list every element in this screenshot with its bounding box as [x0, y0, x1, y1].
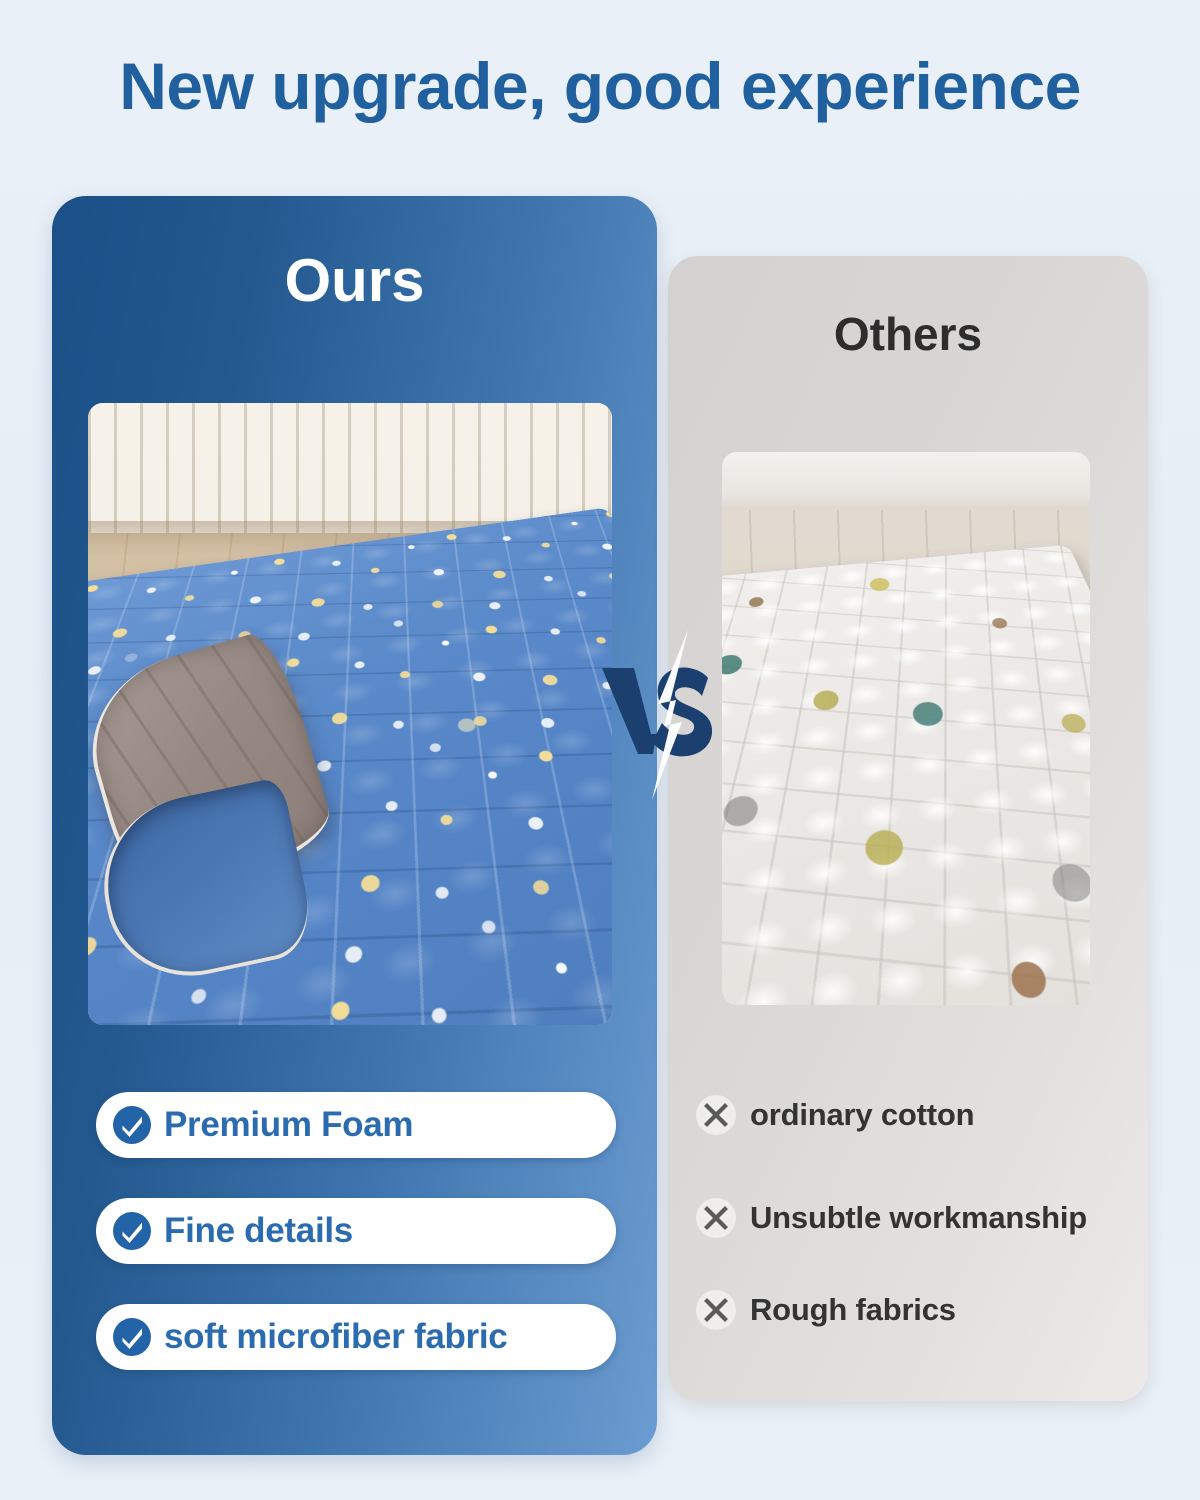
- others-feature-row[interactable]: Unsubtle workmanship: [694, 1196, 1087, 1240]
- others-feature-label: Rough fabrics: [750, 1292, 956, 1328]
- ours-feature-row[interactable]: Fine details: [96, 1198, 616, 1264]
- others-pad-animal-pattern: [722, 544, 1090, 1005]
- ours-feature-label: Premium Foam: [164, 1105, 413, 1145]
- ours-curtain: [88, 403, 612, 533]
- check-circle-icon: [112, 1317, 152, 1357]
- x-circle-icon: [694, 1196, 738, 1240]
- ours-feature-row[interactable]: soft microfiber fabric: [96, 1304, 616, 1370]
- ours-heading: Ours: [52, 246, 657, 316]
- others-heading: Others: [668, 306, 1148, 362]
- others-feature-label: ordinary cotton: [750, 1097, 974, 1133]
- others-feature-label: Unsubtle workmanship: [750, 1200, 1087, 1236]
- x-circle-icon: [694, 1288, 738, 1332]
- page-title: New upgrade, good experience: [0, 46, 1200, 126]
- ours-feature-label: Fine details: [164, 1211, 353, 1251]
- others-feature-row[interactable]: ordinary cotton: [694, 1093, 974, 1137]
- others-wall: [722, 452, 1090, 510]
- ours-feature-label: soft microfiber fabric: [164, 1317, 507, 1357]
- x-circle-icon: [694, 1093, 738, 1137]
- ours-feature-row[interactable]: Premium Foam: [96, 1092, 616, 1158]
- ours-product-photo: [88, 403, 612, 1025]
- others-feature-row[interactable]: Rough fabrics: [694, 1288, 956, 1332]
- others-product-photo: [722, 452, 1090, 1005]
- others-photo-scene: [722, 452, 1090, 1005]
- check-circle-icon: [112, 1211, 152, 1251]
- ours-photo-scene: [88, 403, 612, 1025]
- check-circle-icon: [112, 1105, 152, 1145]
- others-mattress-pad: [722, 544, 1090, 1005]
